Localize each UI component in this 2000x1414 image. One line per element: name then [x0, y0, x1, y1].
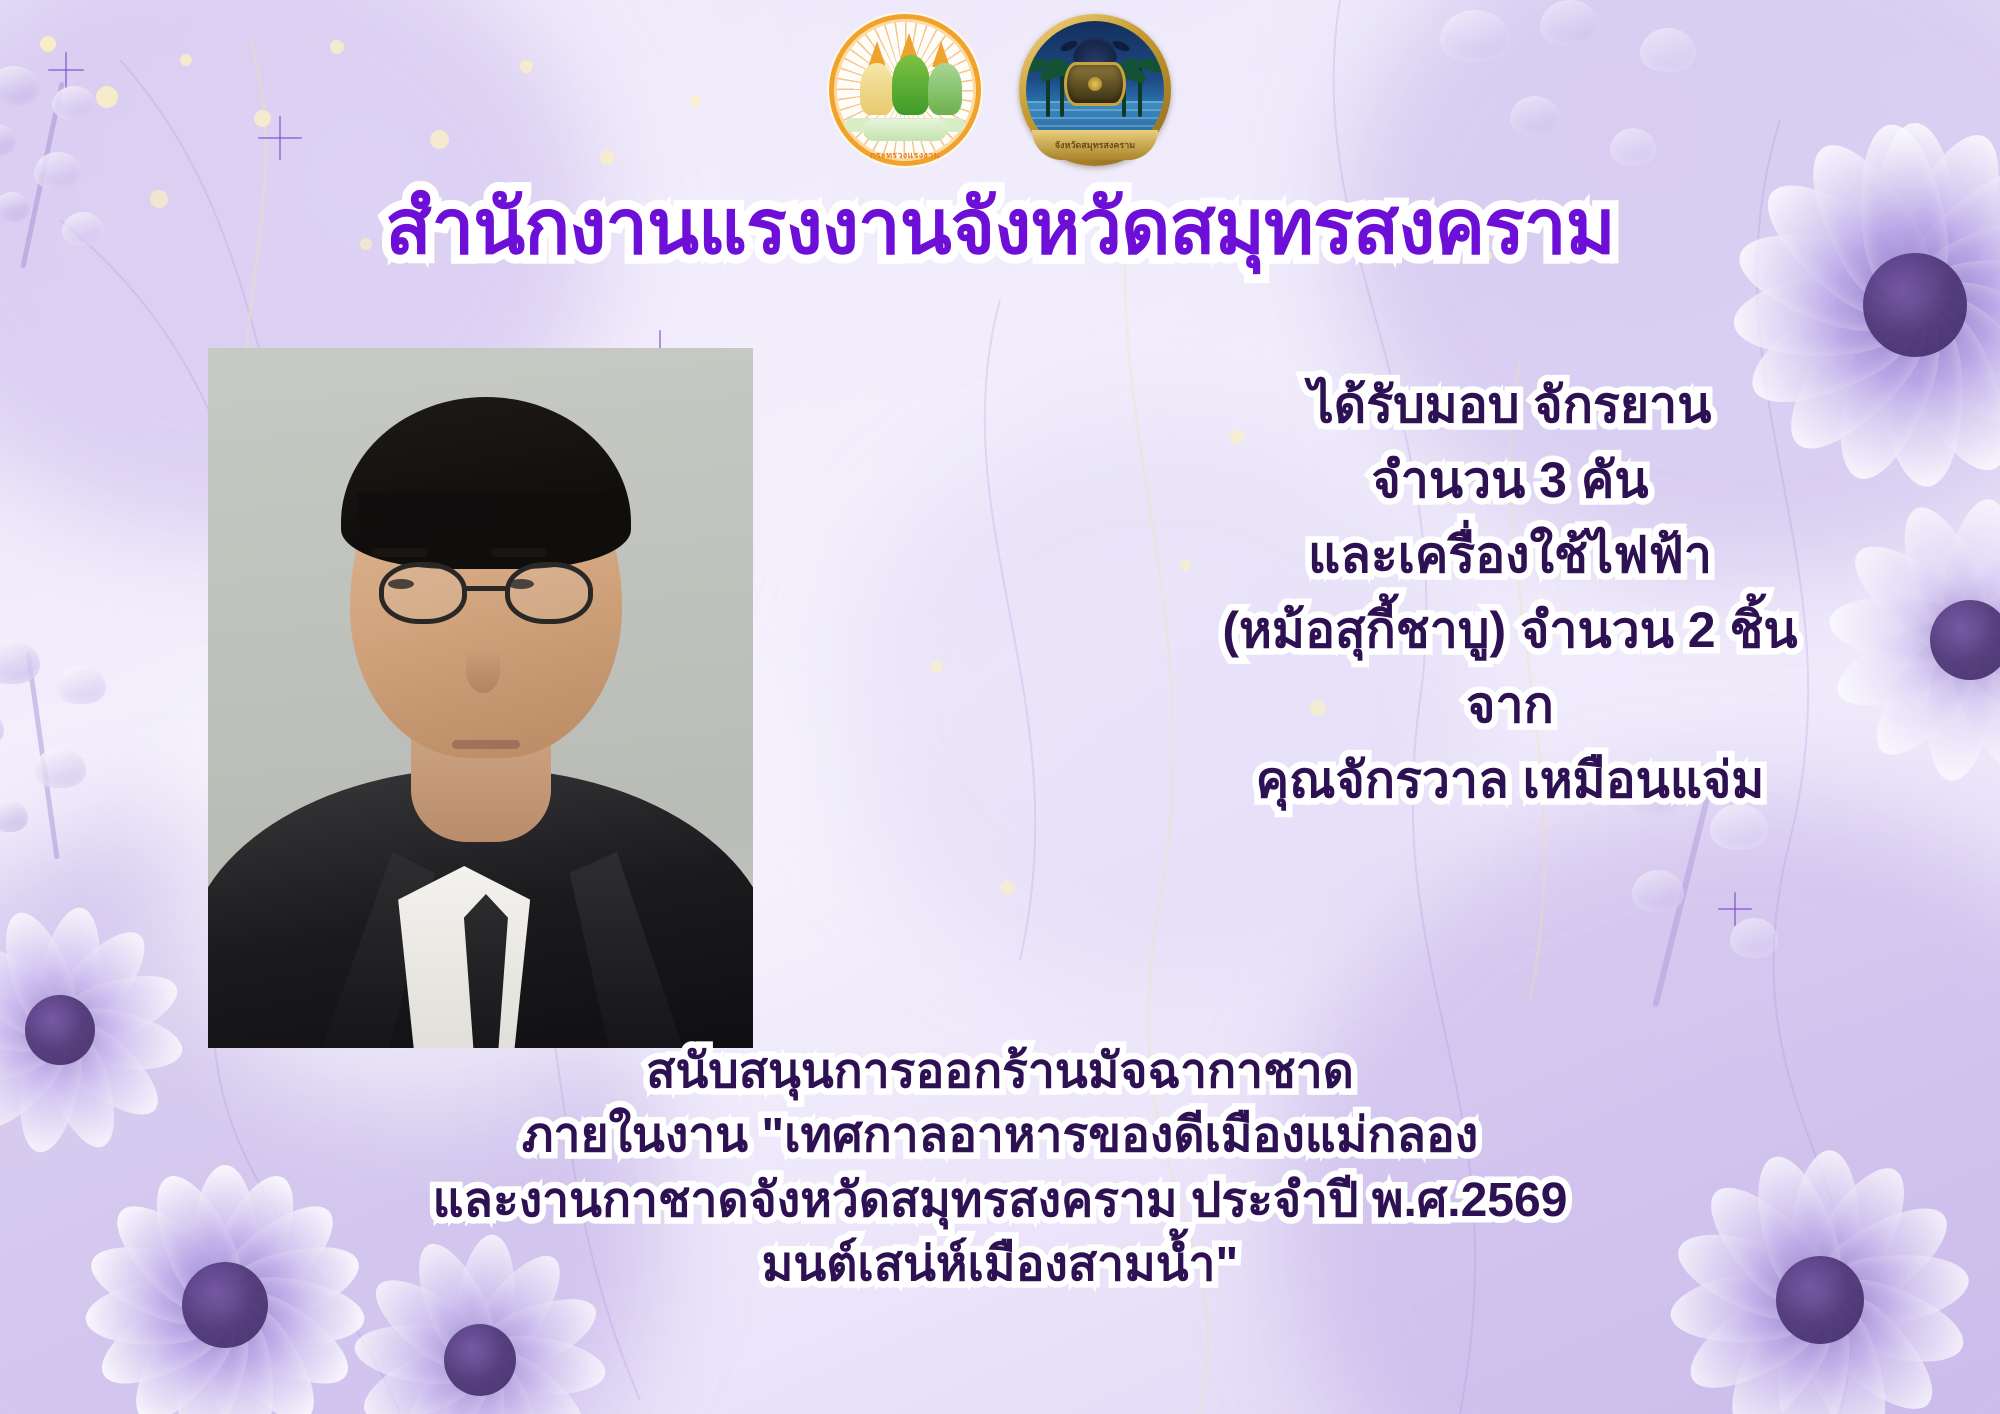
- announcement-line: และเครื่องใช้ไฟฟ้า: [1060, 518, 1960, 593]
- footer-line: สนับสนุนการออกร้านมัจฉากาชาด: [50, 1040, 1950, 1104]
- sparkle-icon: [1718, 892, 1752, 926]
- footer-line: และงานกาชาดจังหวัดสมุทรสงคราม ประจำปี พ.…: [50, 1169, 1950, 1233]
- announcement-line: (หม้อสุกี้ชาบู) จำนวน 2 ชิ้น: [1060, 593, 1960, 668]
- footer-line: ภายในงาน "เทศกาลอาหารของดีเมืองแม่กลอง: [50, 1104, 1950, 1168]
- drum-icon: [1064, 62, 1126, 106]
- announcement-block: ได้รับมอบ จักรยาน จำนวน 3 คัน และเครื่อง…: [1060, 368, 1960, 818]
- seal-caption: จังหวัดสมุทรสงคราม: [1032, 130, 1158, 160]
- announcement-line: ได้รับมอบ จักรยาน: [1060, 368, 1960, 443]
- page-title: สำนักงานแรงงานจังหวัดสมุทรสงคราม: [385, 188, 1615, 267]
- emblem-ring: [829, 14, 981, 166]
- confetti-dot: [930, 660, 943, 673]
- announcement-line: จาก: [1060, 668, 1960, 743]
- palm-tree-icon: [1060, 71, 1064, 117]
- eyeglasses-icon: [379, 562, 593, 624]
- page-title-wrap: สำนักงานแรงงานจังหวัดสมุทรสงคราม: [0, 188, 2000, 267]
- footer-line: มนต์เสน่ห์เมืองสามน้ำ": [50, 1233, 1950, 1297]
- confetti-dot: [1000, 880, 1015, 895]
- ministry-of-labour-emblem: กระทรวงแรงงาน: [829, 14, 981, 166]
- announcement-donor: คุณจักรวาล เหมือนแจ่ม: [1060, 743, 1960, 818]
- emblem-caption: กระทรวงแรงงาน: [829, 148, 981, 162]
- footer-block: สนับสนุนการออกร้านมัจฉากาชาด ภายในงาน "เ…: [50, 1040, 1950, 1297]
- samut-songkhram-province-seal: จังหวัดสมุทรสงคราม: [1019, 14, 1171, 166]
- portrait-photo: [208, 348, 753, 1048]
- announcement-line: จำนวน 3 คัน: [1060, 443, 1960, 518]
- emblem-row: กระทรวงแรงงาน จังหวัดสมุทรสงคราม: [0, 14, 2000, 166]
- poster-canvas: กระทรวงแรงงาน จังหวัดสมุทรสงคราม สำนักงา…: [0, 0, 2000, 1414]
